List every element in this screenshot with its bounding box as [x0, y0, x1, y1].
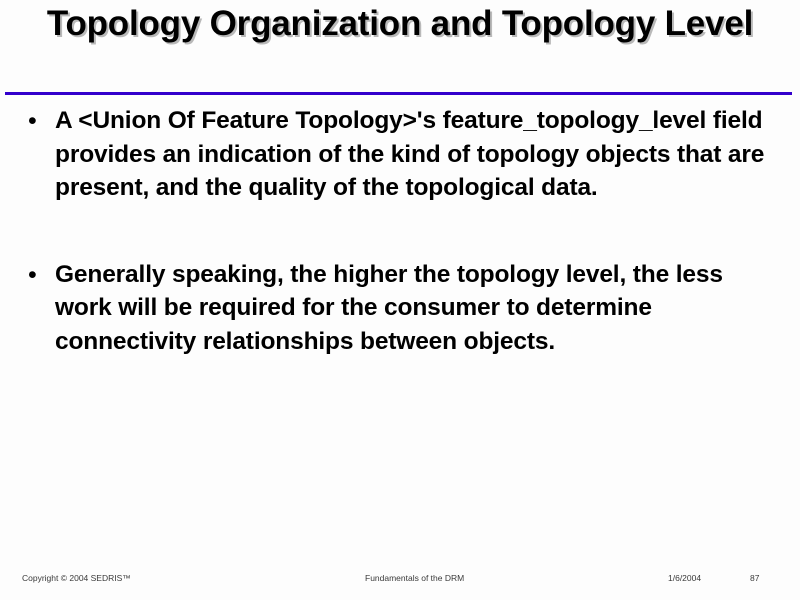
bullet-marker-icon: • [22, 258, 55, 292]
presentation-slide: Topology Organization and Topology Level… [0, 0, 800, 600]
title-divider-rule [5, 92, 792, 95]
footer-copyright: Copyright © 2004 SEDRIS™ [22, 572, 131, 584]
footer-date: 1/6/2004 [668, 572, 701, 584]
slide-footer: Copyright © 2004 SEDRIS™ Fundamentals of… [0, 570, 800, 590]
footer-page-number: 87 [750, 572, 759, 584]
slide-body: • A <Union Of Feature Topology>'s featur… [22, 104, 782, 358]
list-item: • A <Union Of Feature Topology>'s featur… [22, 104, 782, 205]
page-title: Topology Organization and Topology Level [0, 2, 800, 46]
bullet-text: A <Union Of Feature Topology>'s feature_… [55, 104, 782, 205]
list-item: • Generally speaking, the higher the top… [22, 258, 782, 359]
footer-title: Fundamentals of the DRM [365, 572, 464, 584]
bullet-text: Generally speaking, the higher the topol… [55, 258, 782, 359]
slide-title-block: Topology Organization and Topology Level [0, 2, 800, 46]
bullet-marker-icon: • [22, 104, 55, 138]
